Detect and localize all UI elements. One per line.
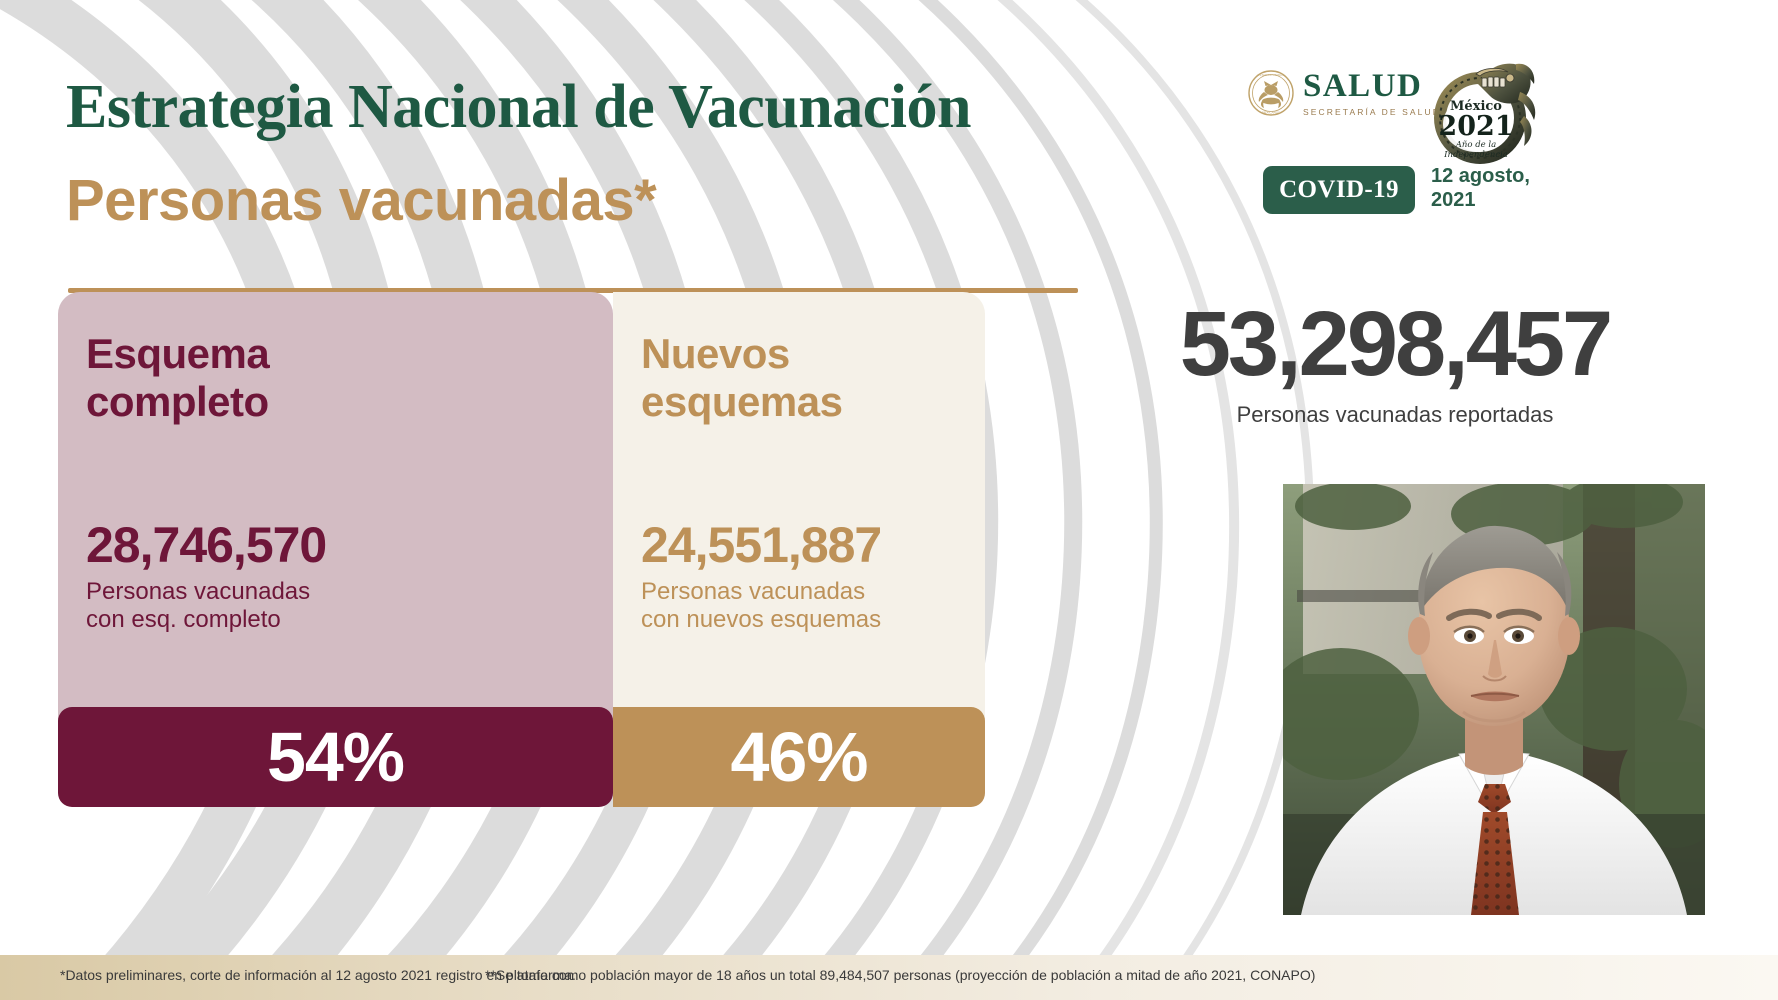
total-vaccinated-block: 53,298,457 Personas vacunadas reportadas [1012, 298, 1778, 418]
svg-text:ESTADOS UNIDOS: ESTADOS UNIDOS [1258, 73, 1285, 77]
percentage-bar-esquema-completo: 54% [58, 707, 613, 807]
mexico-eagle-seal-icon: ESTADOS UNIDOS MEXICANOS [1248, 70, 1294, 116]
mexico-2021-emblem: México 2021 Año de la Independencia [1424, 48, 1540, 170]
page-header: Estrategia Nacional de Vacunación Person… [0, 0, 1778, 300]
emblem-year: 2021 [1438, 111, 1513, 142]
salud-wordmark: SALUD [1303, 70, 1441, 103]
stat-card-esquema-completo: Esquema completo 28,746,570 Personas vac… [58, 292, 613, 807]
card-heading: Nuevos esquemas [641, 330, 985, 427]
page-subtitle: Personas vacunadas* [66, 172, 656, 230]
card-number: 24,551,887 [641, 520, 881, 570]
covid-19-badge: COVID-19 [1263, 166, 1415, 214]
total-caption: Personas vacunadas reportadas [1012, 402, 1778, 428]
salud-subline: SECRETARÍA DE SALUD [1303, 108, 1441, 117]
card-number: 28,746,570 [86, 520, 326, 570]
card-number-block: 28,746,570 Personas vacunadas con esq. c… [58, 520, 326, 635]
salud-logo: ESTADOS UNIDOS MEXICANOS SALUD SECRETARÍ… [1248, 70, 1441, 117]
card-heading: Esquema completo [86, 330, 613, 427]
emblem-line2: Independencia [1443, 150, 1508, 160]
report-date: 12 agosto, 2021 [1431, 165, 1541, 212]
covid-19-badge-label: COVID-19 [1279, 176, 1399, 204]
stat-cards-row: Esquema completo 28,746,570 Personas vac… [58, 292, 985, 807]
total-number: 53,298,457 [1012, 298, 1778, 390]
emblem-line1: Año de la [1455, 140, 1496, 150]
percentage-bar-nuevos-esquemas: 46% [613, 707, 985, 807]
percentage-label: 46% [730, 722, 867, 792]
card-caption: Personas vacunadas con nuevos esquemas [641, 578, 881, 635]
card-caption: Personas vacunadas con esq. completo [86, 578, 326, 635]
percentage-label: 54% [267, 722, 404, 792]
footnote-population-basis: **Se toma como población mayor de 18 año… [485, 967, 1315, 983]
page-title: Estrategia Nacional de Vacunación [66, 76, 971, 138]
card-number-block: 24,551,887 Personas vacunadas con nuevos… [613, 520, 881, 635]
stat-card-nuevos-esquemas: Nuevos esquemas 24,551,887 Personas vacu… [613, 292, 985, 807]
page-footer: *Datos preliminares, corte de informació… [0, 955, 1778, 1000]
svg-text:MEXICANOS: MEXICANOS [1262, 111, 1280, 115]
logo-cluster: ESTADOS UNIDOS MEXICANOS SALUD SECRETARÍ… [1248, 48, 1768, 228]
salud-wordmark-group: SALUD SECRETARÍA DE SALUD [1303, 70, 1441, 117]
official-portrait-photo [1283, 484, 1705, 915]
